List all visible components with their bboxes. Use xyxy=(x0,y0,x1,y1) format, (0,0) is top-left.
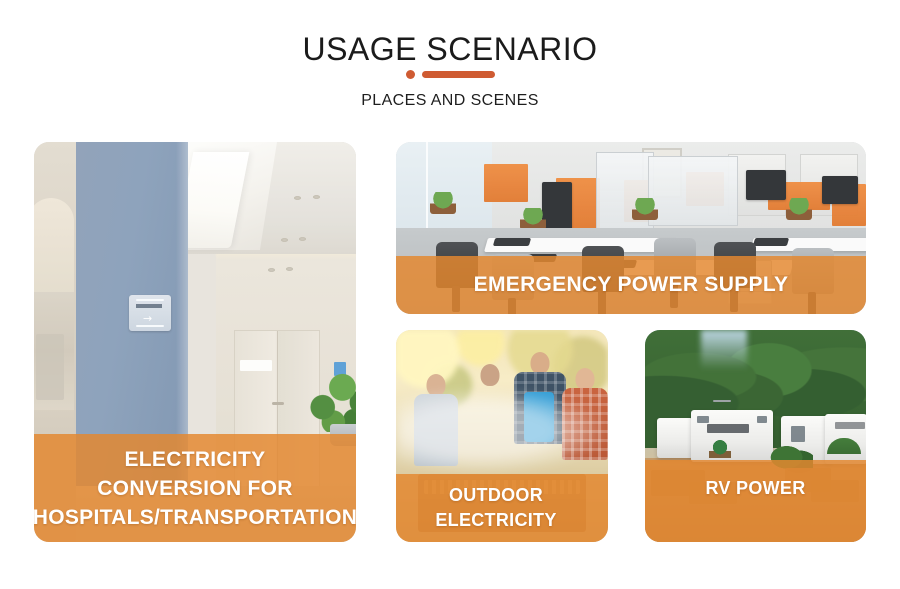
usage-scenario-page: USAGE SCENARIO PLACES AND SCENES xyxy=(0,0,900,589)
scenario-card-hospital[interactable]: → ELECTRICITY CONVERSION FOR HOSPITALS/T… xyxy=(34,142,356,542)
caption-line: ELECTRICITY xyxy=(125,445,266,474)
caption-line: HOSPITALS/TRANSPORTATION xyxy=(34,503,356,532)
caption-line: EMERGENCY POWER SUPPLY xyxy=(474,272,789,298)
page-subtitle: PLACES AND SCENES xyxy=(0,91,900,111)
dot-decoration-icon xyxy=(406,70,415,79)
caption-line: OUTDOOR xyxy=(449,483,543,508)
caption-line: RV POWER xyxy=(705,476,805,501)
card-caption-outdoor: OUTDOOR ELECTRICITY xyxy=(396,474,608,542)
scenario-card-rv[interactable]: RV POWER xyxy=(645,330,866,542)
card-caption-office: EMERGENCY POWER SUPPLY xyxy=(396,256,866,314)
card-caption-rv: RV POWER xyxy=(645,460,866,542)
page-header: USAGE SCENARIO PLACES AND SCENES xyxy=(0,0,900,130)
card-caption-hospital: ELECTRICITY CONVERSION FOR HOSPITALS/TRA… xyxy=(34,434,356,542)
page-title: USAGE SCENARIO xyxy=(0,30,900,68)
scenario-card-outdoor[interactable]: OUTDOOR ELECTRICITY xyxy=(396,330,608,542)
caption-line: ELECTRICITY xyxy=(435,508,556,533)
bar-decoration-icon xyxy=(422,71,495,78)
caption-line: CONVERSION FOR xyxy=(97,474,293,503)
title-decoration xyxy=(0,68,900,80)
scenario-card-office[interactable]: EMERGENCY POWER SUPPLY xyxy=(396,142,866,314)
